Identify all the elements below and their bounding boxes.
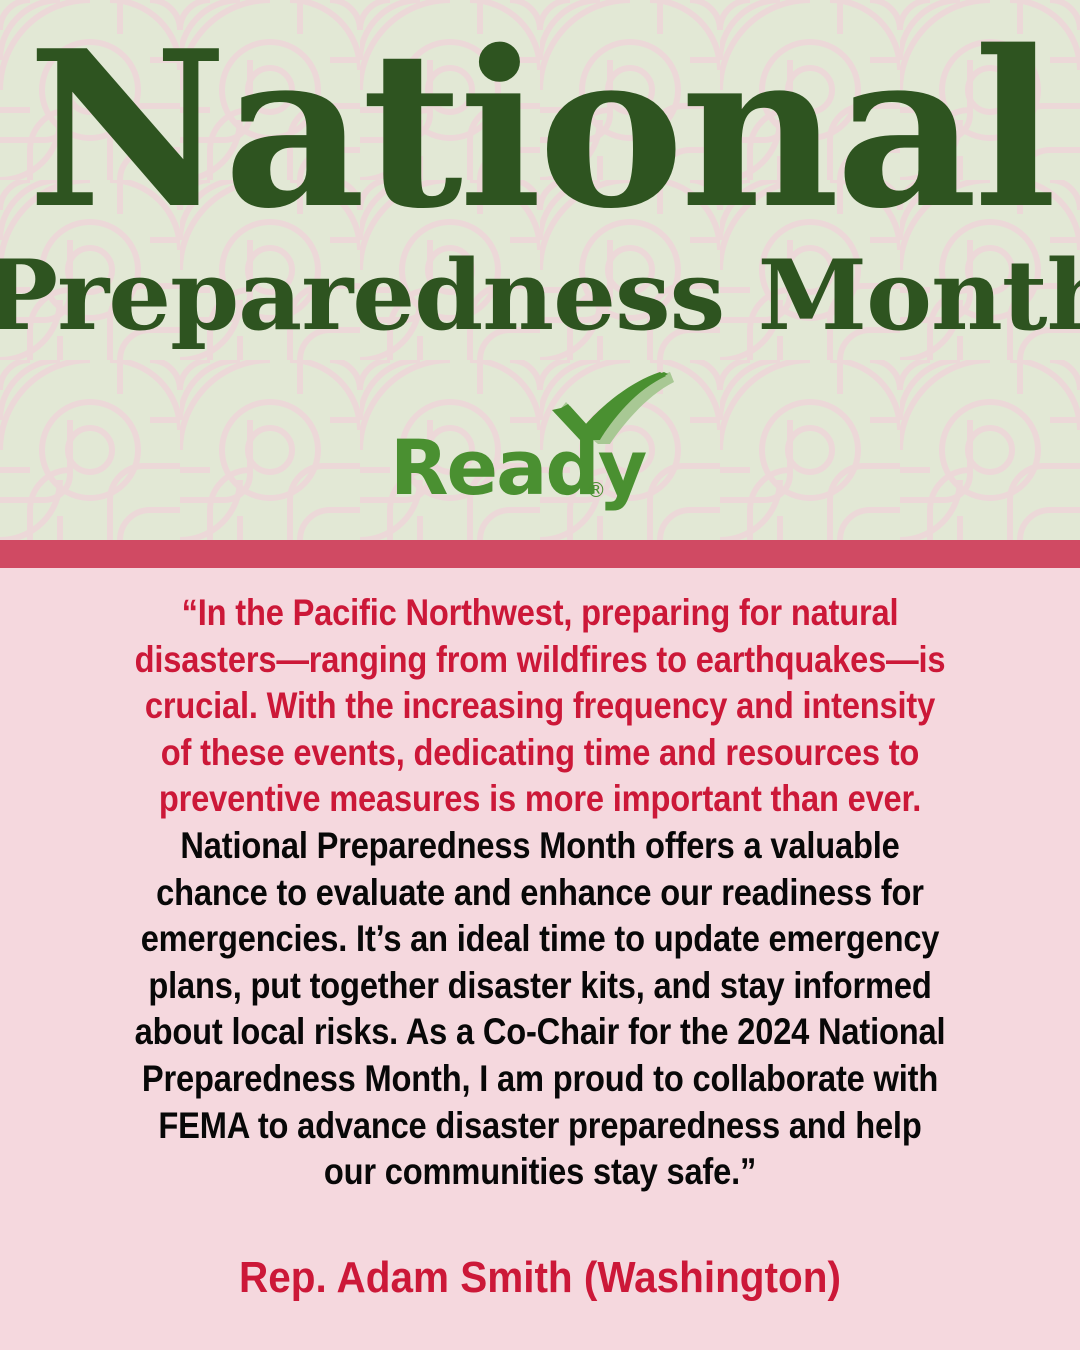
header-banner: National Preparedness Month Ready ® (0, 0, 1080, 540)
quote-text: “In the Pacific Northwest, preparing for… (129, 589, 950, 1195)
quote-section: “In the Pacific Northwest, preparing for… (0, 568, 1080, 1350)
quote-highlight-text: “In the Pacific Northwest, preparing for… (135, 591, 946, 819)
poster-canvas: National Preparedness Month Ready ® “In … (0, 0, 1080, 1350)
quote-remainder-text: National Preparedness Month offers a val… (135, 824, 946, 1192)
registered-trademark-icon: ® (586, 478, 606, 502)
page-title-primary: National (0, 22, 1080, 237)
page-title-secondary: Preparedness Month (0, 248, 1080, 344)
ready-logo: Ready ® (390, 372, 690, 512)
section-divider (0, 540, 1080, 568)
quote-attribution: Rep. Adam Smith (Washington) (43, 1254, 1037, 1302)
ready-wordmark-label: Ready (390, 430, 690, 506)
